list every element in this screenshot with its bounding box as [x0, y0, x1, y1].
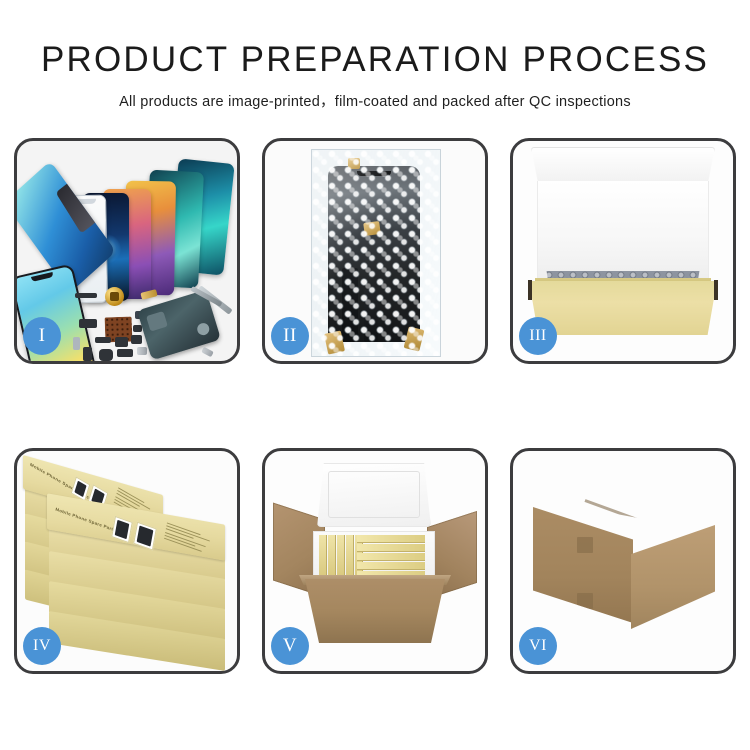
spare-part: [137, 347, 147, 355]
spare-part: [99, 349, 113, 361]
carton-front-face: [533, 507, 633, 623]
box-stack: Mobile Phone Spare Parts Mobile Phone Sp…: [21, 465, 233, 655]
step-badge-2: II: [271, 317, 309, 355]
spare-part: [201, 347, 214, 357]
carton-side-face: [631, 525, 715, 629]
page-subtitle: All products are image-printed，film-coat…: [0, 77, 750, 111]
spare-part: [133, 325, 142, 332]
yellow-box-front-wall: [529, 281, 717, 335]
tape-patch: [577, 537, 593, 553]
spare-part: [73, 337, 80, 350]
step-badge-6: VI: [519, 627, 557, 665]
foam-box-lid: [317, 463, 431, 527]
spare-part: [79, 319, 97, 328]
step-badge-1: I: [23, 317, 61, 355]
step-panel-product-parts-overview: I: [14, 138, 240, 364]
spare-part: [117, 349, 133, 357]
step-panel-stacked-inner-boxes: Mobile Phone Spare Parts Mobile Phone Sp…: [14, 448, 240, 674]
box-label-text: Mobile Phone Spare Parts: [55, 507, 116, 533]
header: PRODUCT PREPARATION PROCESS All products…: [0, 0, 750, 111]
step-badge-5: V: [271, 627, 309, 665]
carton-body: [305, 579, 445, 643]
step-badge-4: IV: [23, 627, 61, 665]
step-badge-3: III: [519, 317, 557, 355]
product-preparation-infographic: PRODUCT PREPARATION PROCESS All products…: [0, 0, 750, 750]
spare-part: [75, 293, 97, 298]
bubble-texture-overlay: [312, 150, 440, 356]
foam-lid-flap: [531, 147, 715, 185]
spare-part: [131, 335, 142, 344]
spare-part: [83, 347, 92, 361]
box-window: [111, 516, 133, 543]
box-corner-shadow: [714, 280, 718, 300]
tape-patch: [577, 593, 593, 609]
yellow-boxes-horizontal: [357, 535, 425, 577]
spare-part: [95, 337, 111, 343]
step-panel-bubble-wrap-packing: II: [262, 138, 488, 364]
gold-component: [105, 287, 124, 306]
page-title: PRODUCT PREPARATION PROCESS: [0, 0, 750, 77]
process-steps-grid: I II: [14, 138, 736, 694]
spare-part: [115, 337, 128, 347]
step-panel-inner-box-foam-padding: III: [510, 138, 736, 364]
box-corner-shadow: [528, 280, 532, 300]
bubble-wrap-bag: [311, 149, 441, 357]
step-panel-sealed-shipping-carton: VI: [510, 448, 736, 674]
step-panel-carton-with-foam-box: V: [262, 448, 488, 674]
